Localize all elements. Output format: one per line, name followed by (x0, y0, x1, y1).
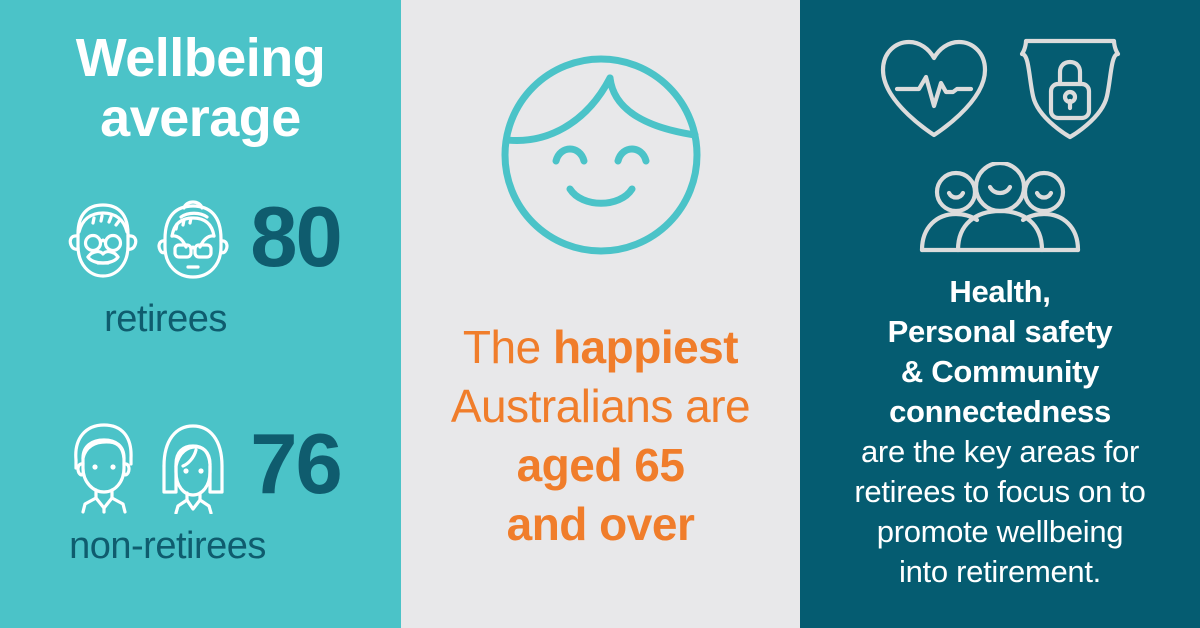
community-icon-wrap (800, 162, 1200, 256)
right-bold-line-4: connectedness (800, 392, 1200, 432)
right-bold-line-3: & Community (800, 352, 1200, 392)
right-reg-line-3: promote wellbeing (800, 512, 1200, 552)
wellbeing-title: Wellbeing average (0, 28, 401, 149)
right-panel-key-areas: Health, Personal safety & Community conn… (800, 0, 1200, 628)
headline-line-2: Australians are (401, 377, 800, 436)
stat-label-retirees: retirees (0, 298, 401, 341)
shield-lock-icon (1015, 34, 1125, 144)
heart-pulse-icon (875, 34, 993, 144)
stat-block-non-retirees: 76 non-retirees (0, 415, 401, 568)
right-body-text: Health, Personal safety & Community conn… (800, 272, 1200, 592)
elderly-man-icon (60, 194, 146, 286)
stat-row-retirees: 80 (0, 188, 401, 288)
right-reg-line-2: retirees to focus on to (800, 472, 1200, 512)
stat-value-retirees: 80 (250, 200, 341, 277)
smiling-face-icon (498, 52, 704, 258)
right-bold-line-2: Personal safety (800, 312, 1200, 352)
right-bold-line-1: Health, (800, 272, 1200, 312)
young-man-icon (60, 416, 146, 514)
headline-the: The (463, 321, 553, 373)
right-reg-line-4: into retirement. (800, 552, 1200, 592)
retiree-icon-group (60, 191, 236, 286)
wellbeing-title-line1: Wellbeing (0, 28, 401, 88)
center-headline: The happiest Australians are aged 65 and… (401, 318, 800, 554)
stat-block-retirees: 80 retirees (0, 188, 401, 341)
headline-happiest: happiest (553, 321, 738, 373)
center-panel-happiest-australians: The happiest Australians are aged 65 and… (401, 0, 800, 628)
non-retiree-icon-group (60, 416, 236, 514)
headline-line-3: aged 65 (401, 436, 800, 495)
smiling-face-illustration (401, 52, 800, 258)
wellbeing-title-line2: average (0, 88, 401, 148)
community-people-icon (914, 162, 1086, 256)
elderly-woman-icon (150, 191, 236, 286)
right-icon-row-top (800, 34, 1200, 144)
infographic-root: Wellbeing average (0, 0, 1200, 628)
stat-row-non-retirees: 76 (0, 415, 401, 515)
right-reg-line-1: are the key areas for (800, 432, 1200, 472)
stat-label-non-retirees: non-retirees (0, 525, 401, 568)
left-panel-wellbeing-average: Wellbeing average (0, 0, 401, 628)
young-woman-icon (150, 416, 236, 514)
headline-line-1: The happiest (401, 318, 800, 377)
headline-line-4: and over (401, 495, 800, 554)
stat-value-non-retirees: 76 (250, 427, 341, 504)
